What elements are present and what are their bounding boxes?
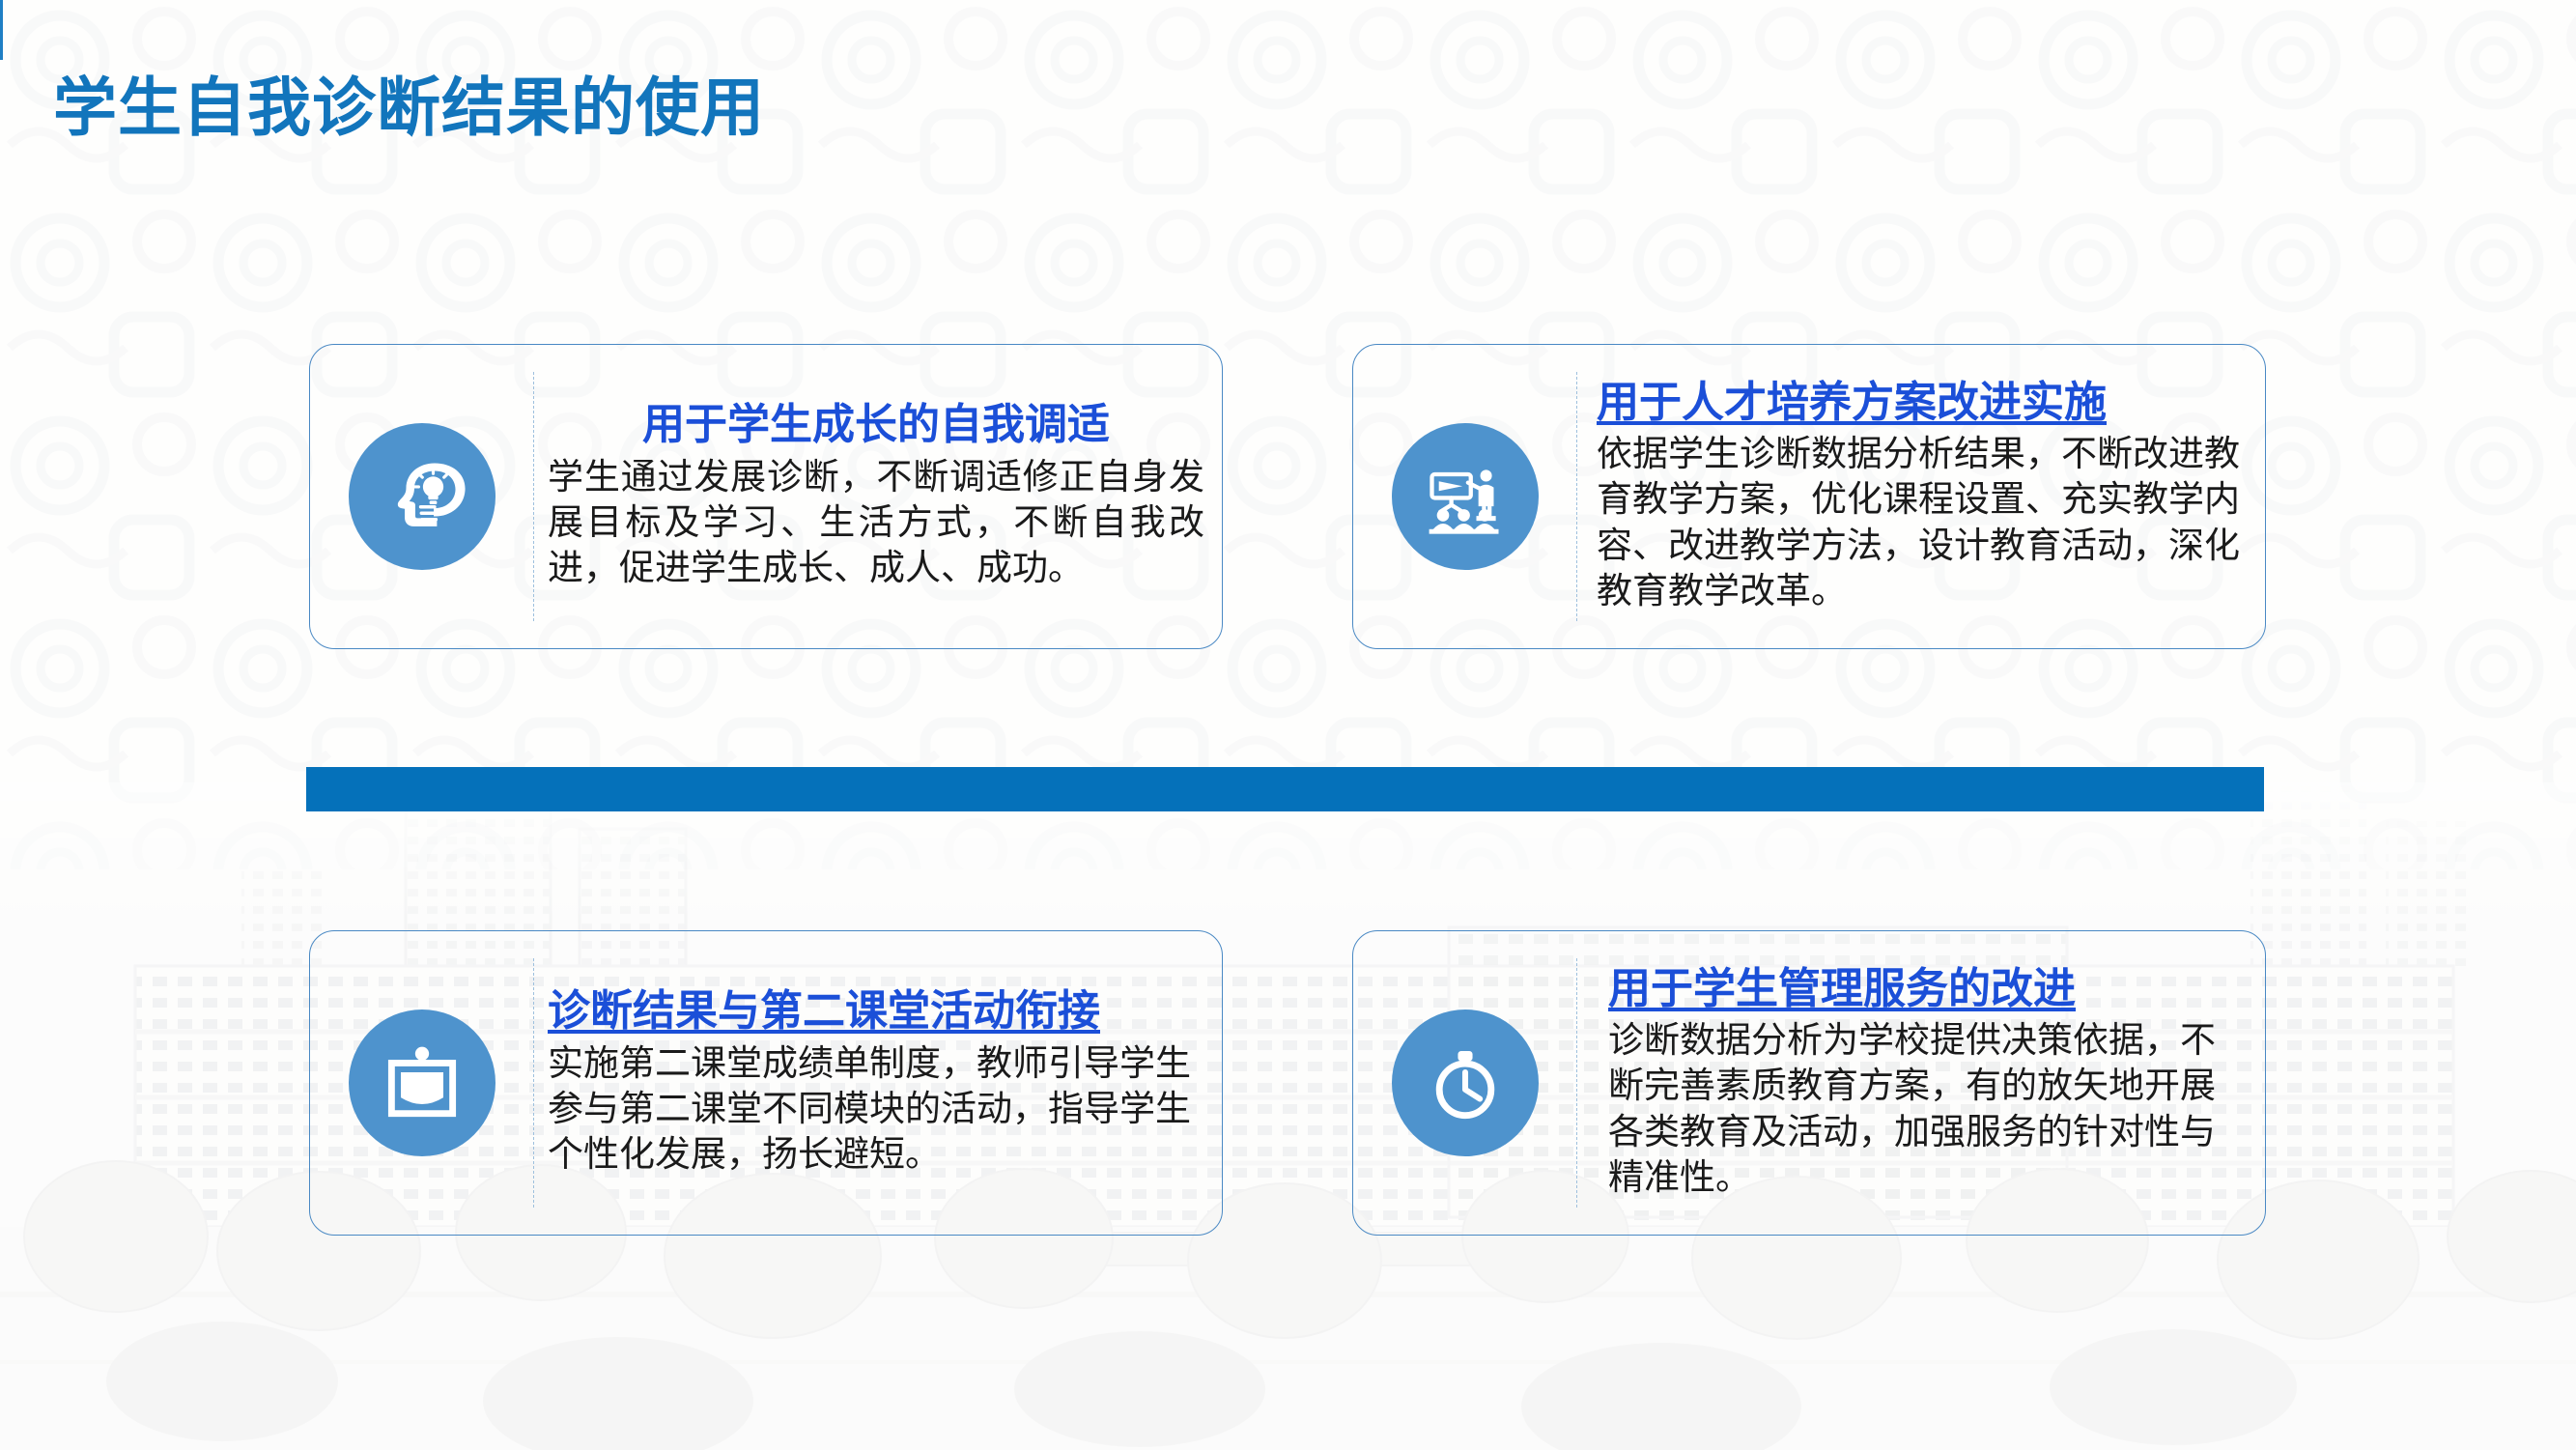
clipboard-icon [380,1040,465,1125]
card-body: 学生通过发展诊断，不断调适修正自身发展目标及学习、生活方式，不断自我改进，促进学… [548,455,1204,592]
card-student-management[interactable]: 用于学生管理服务的改进 诊断数据分析为学校提供决策依据，不断完善素质教育方案，有… [1352,930,2266,1236]
card-body: 诊断数据分析为学校提供决策依据，不断完善素质教育方案，有的放矢地开展各类教育及活… [1608,1018,2248,1201]
blue-divider-bar [306,767,2264,811]
card-text-container: 用于学生成长的自我调适 学生通过发展诊断，不断调适修正自身发展目标及学习、生活方… [534,401,1222,591]
classroom-teaching-icon [1421,452,1510,541]
card-icon-container [1353,931,1577,1235]
card-body: 依据学生诊断数据分析结果，不断改进教育教学方案，优化课程设置、充实教学内容、改进… [1597,432,2248,614]
card-text-container: 用于学生管理服务的改进 诊断数据分析为学校提供决策依据，不断完善素质教育方案，有… [1577,965,2265,1202]
icon-circle [349,423,495,570]
card-heading: 用于学生管理服务的改进 [1608,965,2248,1012]
card-icon-container [1353,345,1577,648]
card-icon-container [310,931,534,1235]
icon-circle [1392,423,1539,570]
card-icon-container [310,345,534,648]
card-talent-training-plan[interactable]: 用于人才培养方案改进实施 依据学生诊断数据分析结果，不断改进教育教学方案，优化课… [1352,344,2266,649]
card-body: 实施第二课堂成绩单制度，教师引导学生参与第二课堂不同模块的活动，指导学生个性化发… [548,1041,1204,1179]
head-lightbulb-icon [378,452,467,541]
card-text-container: 用于人才培养方案改进实施 依据学生诊断数据分析结果，不断改进教育教学方案，优化课… [1577,379,2265,615]
card-self-adjustment[interactable]: 用于学生成长的自我调适 学生通过发展诊断，不断调适修正自身发展目标及学习、生活方… [309,344,1223,649]
icon-circle [1392,1009,1539,1156]
card-heading: 诊断结果与第二课堂活动衔接 [548,987,1204,1035]
card-text-container: 诊断结果与第二课堂活动衔接 实施第二课堂成绩单制度，教师引导学生参与第二课堂不同… [534,987,1222,1178]
card-heading: 用于学生成长的自我调适 [548,401,1204,448]
card-second-classroom[interactable]: 诊断结果与第二课堂活动衔接 实施第二课堂成绩单制度，教师引导学生参与第二课堂不同… [309,930,1223,1236]
card-heading: 用于人才培养方案改进实施 [1597,379,2248,426]
icon-circle [349,1009,495,1156]
stopwatch-icon [1423,1040,1508,1125]
left-edge-accent-line [0,0,3,60]
slide-canvas: 学生自我诊断结果的使用 [0,0,2576,1450]
page-title: 学生自我诊断结果的使用 [53,56,765,149]
